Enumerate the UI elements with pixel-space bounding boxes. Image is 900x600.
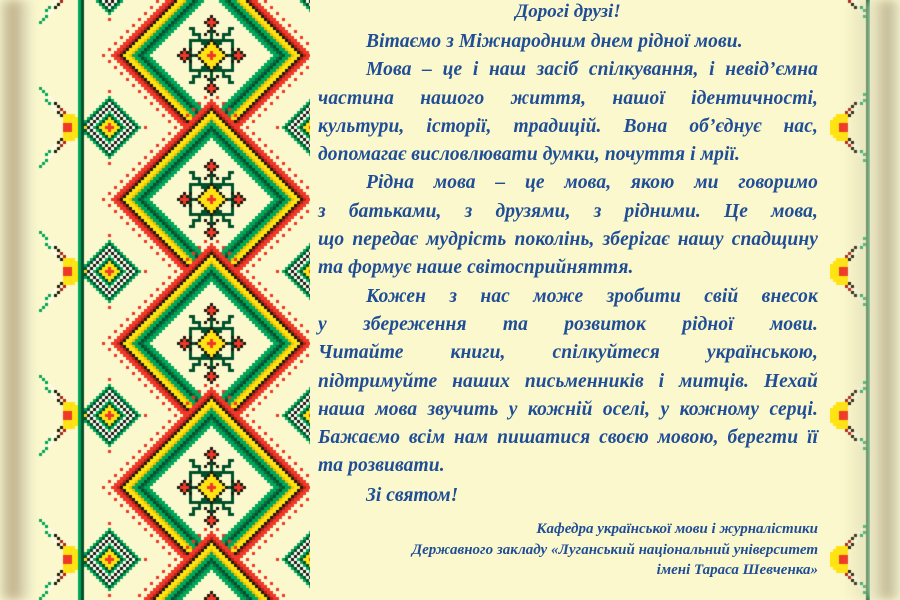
paragraph-line: Вітаємо з Міжнародним днем рідної мови. (318, 28, 818, 56)
paragraph-line: у збереження та розвиток рідної мови. (318, 311, 818, 339)
paragraph: Мова – це і наш засіб спілкування, і нев… (318, 56, 818, 169)
card-text: Дорогі друзі! Вітаємо з Міжнародним днем… (318, 0, 818, 600)
card-body: Вітаємо з Міжнародним днем рідної мови.М… (318, 28, 818, 481)
paragraph-line: Читайте книги, спілкуйтеся українською, (318, 339, 818, 367)
signature-line: Державного закладу «Луганський національ… (318, 540, 818, 561)
signature-line: імені Тараса Шевченка» (318, 560, 818, 581)
card-closing: Зі святом! (318, 482, 818, 510)
card-title: Дорогі друзі! (318, 0, 818, 21)
paragraph-line: що передає мудрість поколінь, зберігає н… (318, 226, 818, 254)
paragraph-line: та розвивати. (318, 452, 818, 480)
embroidery-border-right (830, 0, 870, 600)
paragraph: Рідна мова – це мова, якою ми говоримоз … (318, 169, 818, 282)
embroidery-border-left (0, 0, 310, 600)
paragraph-line: підтримуйте наших письменників і митців.… (318, 368, 818, 396)
paragraph: Вітаємо з Міжнародним днем рідної мови. (318, 28, 818, 56)
paragraph-line: культури, історії, традицій. Вона об’єдн… (318, 113, 818, 141)
paragraph-line: допомагає висловлювати думки, почуття і … (318, 141, 818, 169)
signature-line: Кафедра української мови і журналістики (318, 519, 818, 540)
paragraph-line: Мова – це і наш засіб спілкування, і нев… (318, 56, 818, 84)
paragraph-line: Бажаємо всім нам пишатися своєю мовою, б… (318, 424, 818, 452)
card-signature: Кафедра української мови і журналістикиД… (318, 519, 818, 581)
paragraph-line: та формує наше світосприйняття. (318, 254, 818, 282)
paragraph: Кожен з нас може зробити свій внесоку зб… (318, 283, 818, 481)
right-edge-fade (866, 0, 900, 600)
greeting-card: Дорогі друзі! Вітаємо з Міжнародним днем… (0, 0, 900, 600)
paragraph-line: Рідна мова – це мова, якою ми говоримо (318, 169, 818, 197)
paragraph-line: наша мова звучить у кожній оселі, у кожн… (318, 396, 818, 424)
paragraph-line: Кожен з нас може зробити свій внесок (318, 283, 818, 311)
paragraph-line: частина нашого життя, нашої ідентичності… (318, 85, 818, 113)
paragraph-line: з батьками, з друзями, з рідними. Це мов… (318, 198, 818, 226)
